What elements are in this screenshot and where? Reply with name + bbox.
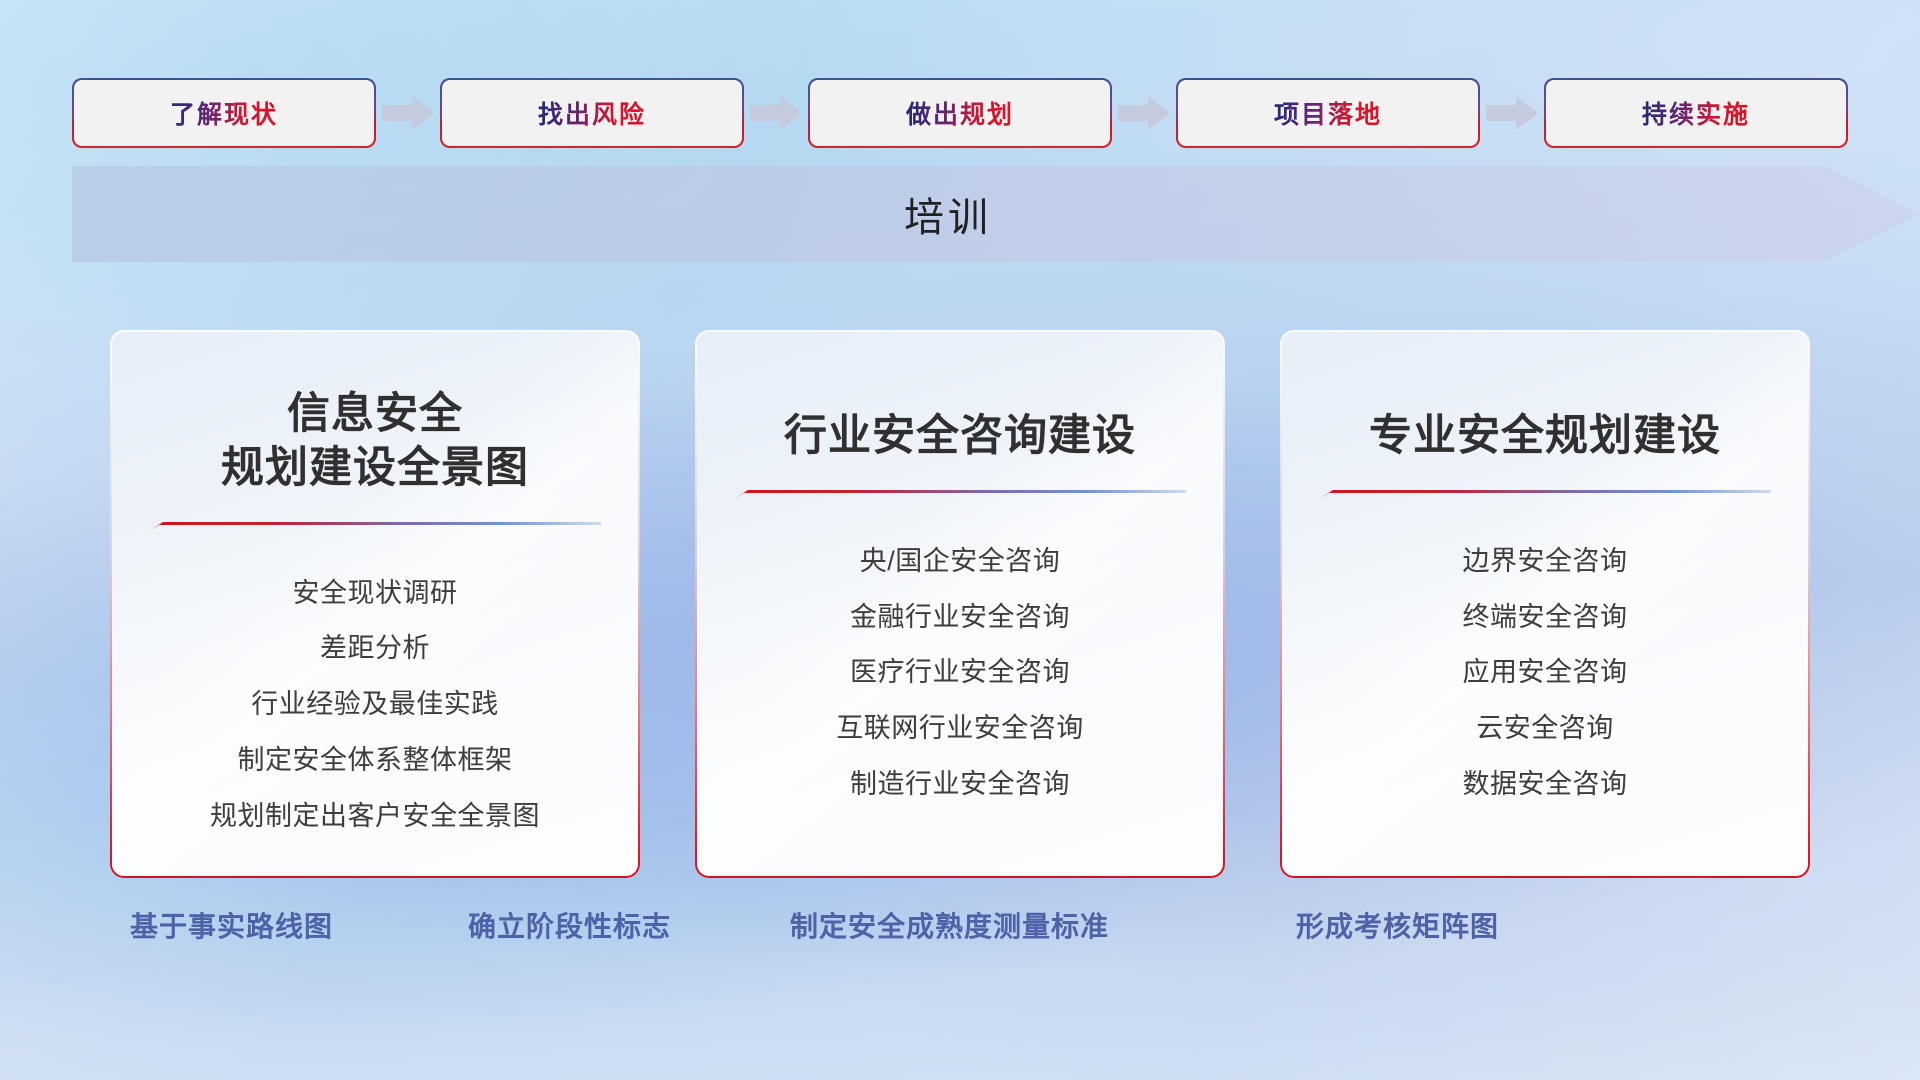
step-label-4: 持续实施 bbox=[1642, 95, 1750, 131]
card-0-title-line-1: 规划建设全景图 bbox=[112, 442, 638, 496]
list-item: 行业经验及最佳实践 bbox=[112, 677, 638, 733]
card-2-title-line-0: 专业安全规划建设 bbox=[1282, 410, 1808, 464]
card-2-accent-rule bbox=[1319, 488, 1771, 500]
list-item: 规划制定出客户安全全景图 bbox=[112, 789, 638, 845]
card-0[interactable]: 信息安全 规划建设全景图 bbox=[110, 330, 640, 878]
step-label-2: 做出规划 bbox=[906, 95, 1014, 131]
step-box-2[interactable]: 做出规划 bbox=[808, 78, 1112, 148]
list-item: 医疗行业安全咨询 bbox=[697, 645, 1223, 701]
step-box-3[interactable]: 项目落地 bbox=[1176, 78, 1480, 148]
card-2-inner: 专业安全规划建设 bbox=[1282, 332, 1808, 876]
list-item: 应用安全咨询 bbox=[1282, 645, 1808, 701]
card-row: 信息安全 规划建设全景图 bbox=[110, 330, 1810, 878]
list-item: 安全现状调研 bbox=[112, 566, 638, 622]
step-box-4-inner: 持续实施 bbox=[1546, 80, 1846, 146]
card-0-inner: 信息安全 规划建设全景图 bbox=[112, 332, 638, 876]
card-0-accent-rule bbox=[149, 520, 601, 532]
card-2-title: 专业安全规划建设 bbox=[1282, 410, 1808, 464]
step-box-2-inner: 做出规划 bbox=[810, 80, 1110, 146]
card-0-title: 信息安全 规划建设全景图 bbox=[112, 388, 638, 496]
list-item: 边界安全咨询 bbox=[1282, 534, 1808, 590]
footnote-row: 基于事实路线图 确立阶段性标志 制定安全成熟度测量标准 形成考核矩阵图 bbox=[0, 905, 1920, 965]
footnote-3: 形成考核矩阵图 bbox=[1296, 905, 1499, 945]
list-item: 制定安全体系整体框架 bbox=[112, 733, 638, 789]
step-box-1-inner: 找出风险 bbox=[442, 80, 742, 146]
card-2[interactable]: 专业安全规划建设 bbox=[1280, 330, 1810, 878]
arrow-right-icon-2 bbox=[1112, 78, 1176, 148]
training-banner-label: 培训 bbox=[72, 166, 1824, 262]
card-2-list: 边界安全咨询 终端安全咨询 应用安全咨询 云安全咨询 数据安全咨询 bbox=[1282, 534, 1808, 813]
step-box-3-inner: 项目落地 bbox=[1178, 80, 1478, 146]
process-step-row: 了解现状 找出风险 做出规划 bbox=[72, 78, 1848, 148]
arrow-right-icon-3 bbox=[1480, 78, 1544, 148]
list-item: 互联网行业安全咨询 bbox=[697, 701, 1223, 757]
step-box-4[interactable]: 持续实施 bbox=[1544, 78, 1848, 148]
step-label-1: 找出风险 bbox=[538, 95, 646, 131]
list-item: 差距分析 bbox=[112, 621, 638, 677]
card-1[interactable]: 行业安全咨询建设 bbox=[695, 330, 1225, 878]
footnote-2: 制定安全成熟度测量标准 bbox=[790, 905, 1109, 945]
card-0-list: 安全现状调研 差距分析 行业经验及最佳实践 制定安全体系整体框架 规划制定出客户… bbox=[112, 566, 638, 845]
list-item: 金融行业安全咨询 bbox=[697, 590, 1223, 646]
step-box-0[interactable]: 了解现状 bbox=[72, 78, 376, 148]
card-1-accent-rule bbox=[734, 488, 1186, 500]
arrow-right-icon-0 bbox=[376, 78, 440, 148]
slide-canvas: 了解现状 找出风险 做出规划 bbox=[0, 0, 1920, 1080]
step-label-3: 项目落地 bbox=[1274, 95, 1382, 131]
list-item: 制造行业安全咨询 bbox=[697, 757, 1223, 813]
list-item: 央/国企安全咨询 bbox=[697, 534, 1223, 590]
card-1-inner: 行业安全咨询建设 bbox=[697, 332, 1223, 876]
step-label-0: 了解现状 bbox=[170, 95, 278, 131]
card-1-title: 行业安全咨询建设 bbox=[697, 410, 1223, 464]
list-item: 终端安全咨询 bbox=[1282, 590, 1808, 646]
step-box-1[interactable]: 找出风险 bbox=[440, 78, 744, 148]
step-box-0-inner: 了解现状 bbox=[74, 80, 374, 146]
list-item: 数据安全咨询 bbox=[1282, 757, 1808, 813]
footnote-1: 确立阶段性标志 bbox=[468, 905, 671, 945]
footnote-0: 基于事实路线图 bbox=[130, 905, 333, 945]
training-banner: 培训 bbox=[72, 166, 1920, 262]
card-1-title-line-0: 行业安全咨询建设 bbox=[697, 410, 1223, 464]
arrow-right-icon-1 bbox=[744, 78, 808, 148]
card-0-title-line-0: 信息安全 bbox=[112, 388, 638, 442]
card-1-list: 央/国企安全咨询 金融行业安全咨询 医疗行业安全咨询 互联网行业安全咨询 制造行… bbox=[697, 534, 1223, 813]
list-item: 云安全咨询 bbox=[1282, 701, 1808, 757]
